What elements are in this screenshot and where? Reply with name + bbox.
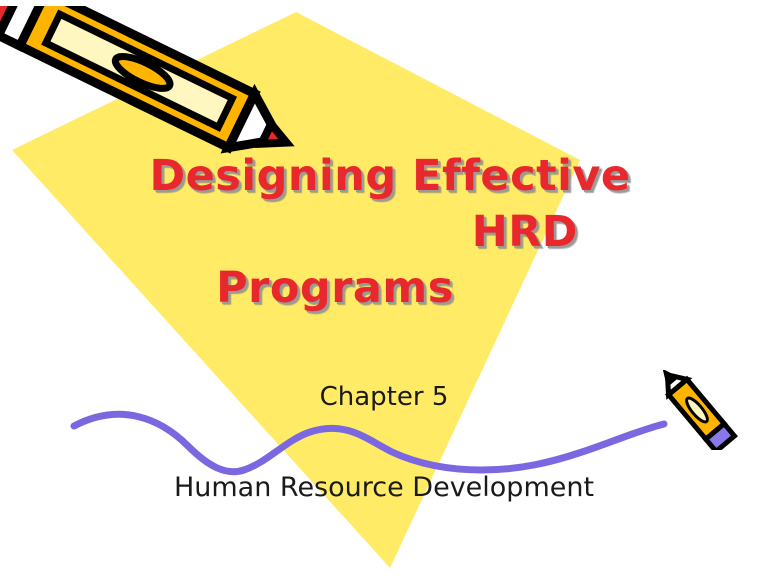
title-line-1: Designing Effective — [90, 148, 690, 204]
title-line-2: HRD — [90, 204, 690, 260]
slide-title: Designing Effective HRD Programs — [90, 148, 690, 316]
slide-subtitle: Chapter 5 — [0, 382, 768, 412]
presentation-slide: Designing Effective HRD Programs Chapter… — [0, 0, 768, 576]
slide-footer: Human Resource Development — [0, 472, 768, 503]
title-line-3: Programs — [90, 260, 690, 316]
